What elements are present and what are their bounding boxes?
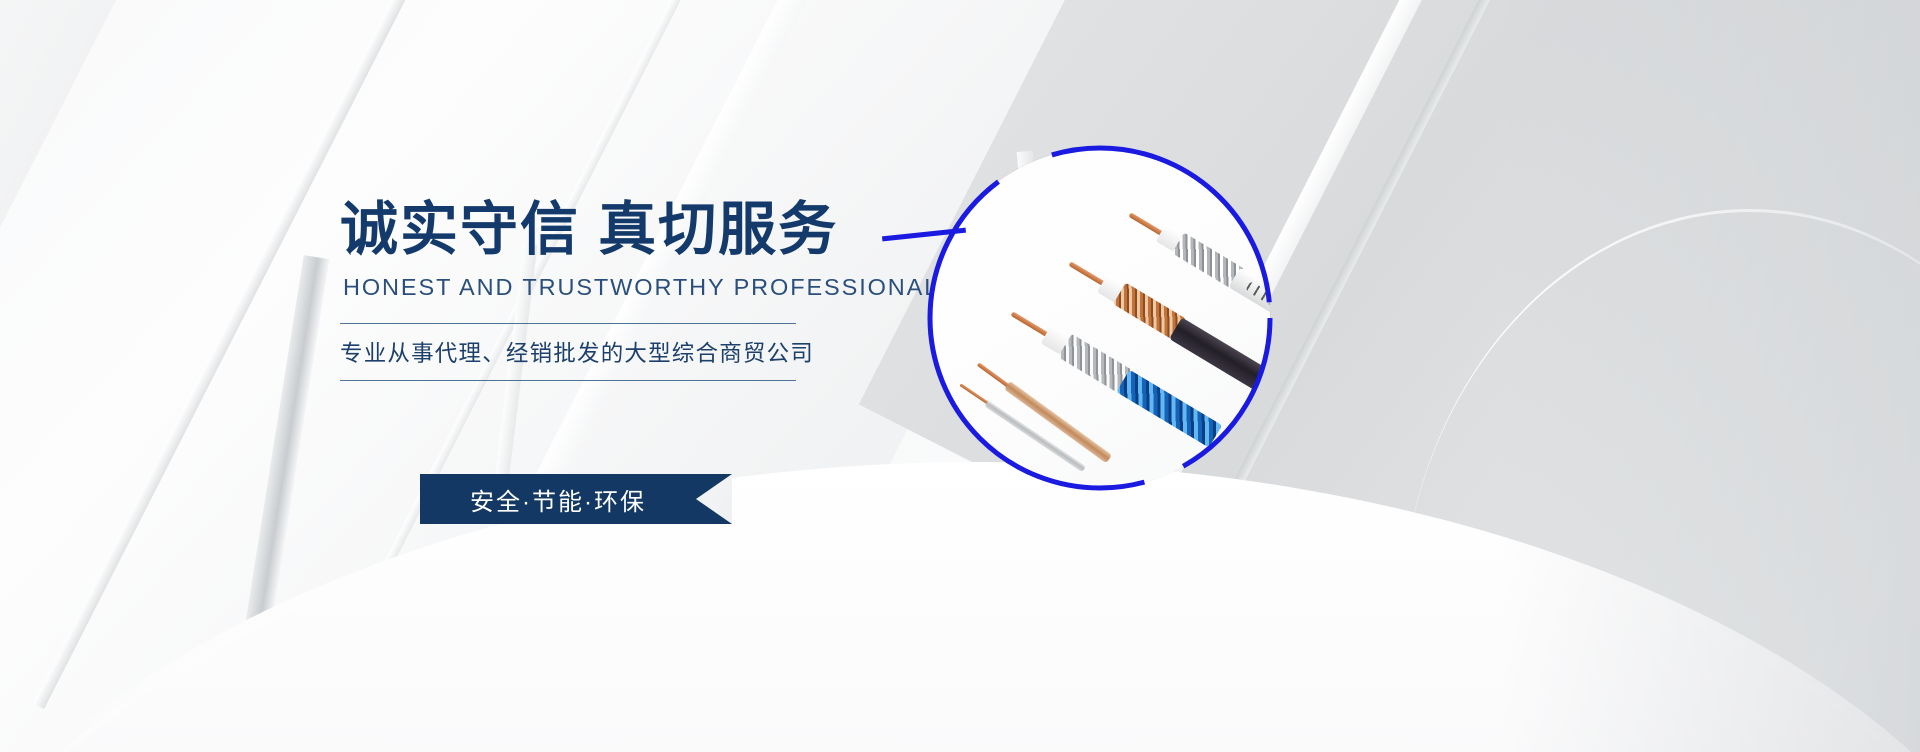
status-badge: 安全·节能·环保	[420, 474, 732, 524]
hero-banner: 诚实守信 真切服务 HONEST AND TRUSTWORTHY PROFESS…	[0, 0, 1920, 752]
tagline-text: 专业从事代理、经销批发的大型综合商贸公司	[340, 324, 796, 380]
background-vignette-right	[1500, 0, 1920, 752]
background-vignette-left	[0, 0, 300, 752]
background-strut-left	[238, 255, 329, 674]
divider-top	[340, 323, 796, 324]
background-floor-glow	[0, 472, 1920, 752]
divider-bottom	[340, 380, 796, 381]
background-panel-left	[0, 0, 389, 752]
ring-outline-icon	[912, 130, 1288, 506]
product-circle	[912, 130, 1288, 506]
tagline-block: 专业从事代理、经销批发的大型综合商贸公司	[340, 323, 796, 381]
ribbon-notch	[696, 474, 732, 524]
background-floor-arc	[1400, 209, 1920, 632]
status-badge-label: 安全·节能·环保	[420, 474, 696, 524]
